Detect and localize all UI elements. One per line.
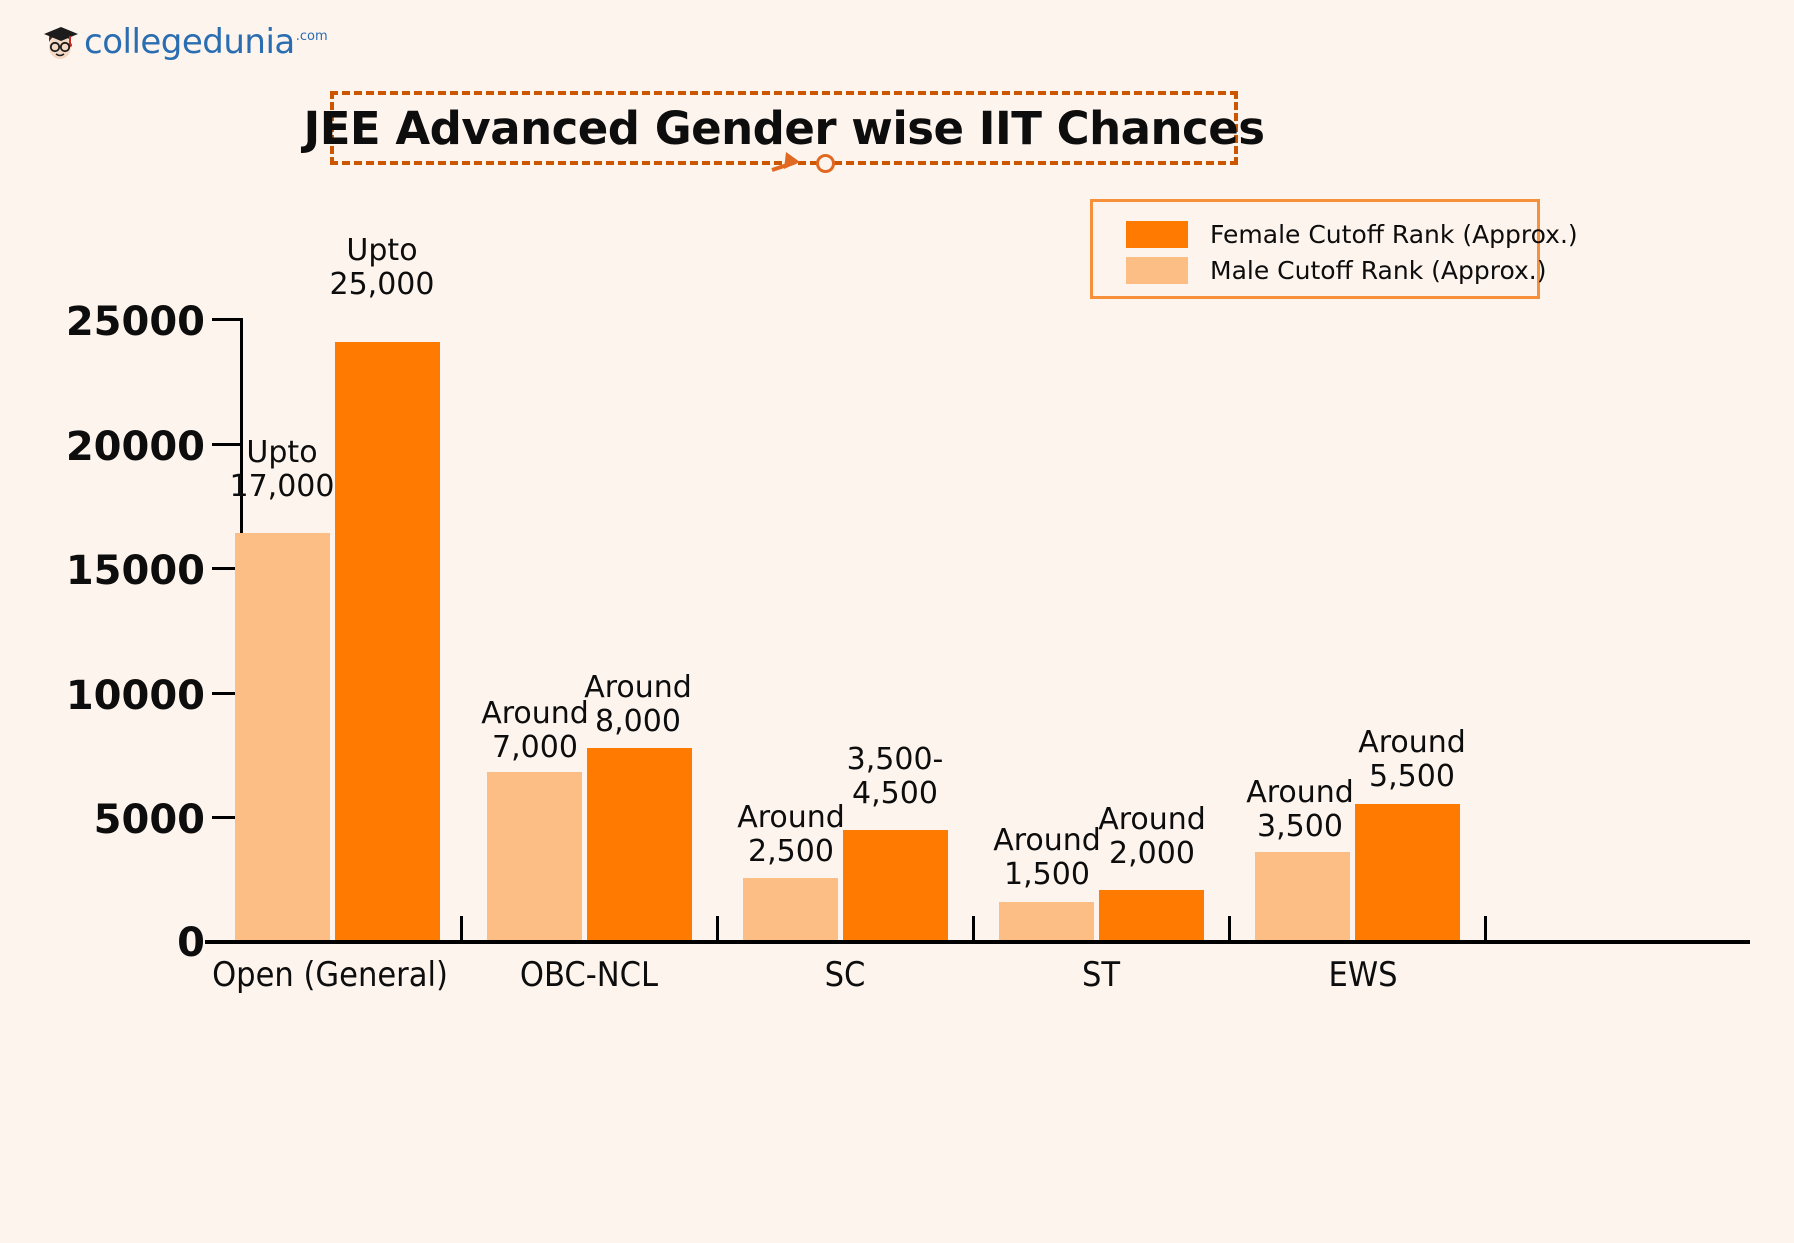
x-label-open-general: Open (General) <box>212 955 448 995</box>
value-label-female-obc-ncl: Around 8,000 <box>584 671 692 739</box>
value-label-male-obc-ncl: Around 7,000 <box>481 697 589 765</box>
y-tick-label-25000: 25000 <box>66 299 205 345</box>
bar-female-st[interactable] <box>1099 890 1204 940</box>
x-label-ews: EWS <box>1329 955 1398 995</box>
value-label-female-sc: 3,500- 4,500 <box>847 743 944 811</box>
bar-male-sc[interactable] <box>743 878 838 940</box>
bar-female-obc-ncl[interactable] <box>587 748 692 940</box>
y-tick-label-0: 0 <box>177 920 205 966</box>
value-label-male-open-general: Upto 17,000 <box>230 436 335 504</box>
bar-group-ews <box>1255 318 1480 940</box>
value-label-female-open-general: Upto 25,000 <box>330 234 435 302</box>
bar-group-open-general <box>235 318 460 940</box>
x-divider-3 <box>972 916 975 941</box>
value-label-female-ews: Around 5,500 <box>1358 726 1466 794</box>
bar-group-obc-ncl <box>487 318 712 940</box>
y-tick-label-5000: 5000 <box>94 797 205 843</box>
x-label-obc-ncl: OBC-NCL <box>520 955 658 995</box>
value-label-male-ews: Around 3,500 <box>1246 776 1354 844</box>
value-label-male-sc: Around 2,500 <box>737 801 845 869</box>
bar-female-sc[interactable] <box>843 830 948 940</box>
bar-female-open-general[interactable] <box>335 342 440 940</box>
x-divider-2 <box>716 916 719 941</box>
bar-male-obc-ncl[interactable] <box>487 772 582 940</box>
y-tick-label-10000: 10000 <box>66 673 205 719</box>
bar-male-st[interactable] <box>999 902 1094 940</box>
y-tick-label-15000: 15000 <box>66 548 205 594</box>
bar-female-ews[interactable] <box>1355 804 1460 940</box>
y-tick-label-20000: 20000 <box>66 424 205 470</box>
x-divider-1 <box>460 916 463 941</box>
value-label-female-st: Around 2,000 <box>1098 803 1206 871</box>
bar-male-open-general[interactable] <box>235 533 330 940</box>
x-label-sc: SC <box>825 955 866 995</box>
value-label-male-st: Around 1,500 <box>993 824 1101 892</box>
x-axis-line <box>205 940 1750 944</box>
x-label-st: ST <box>1082 955 1120 995</box>
bar-male-ews[interactable] <box>1255 852 1350 940</box>
x-divider-4 <box>1228 916 1231 941</box>
bar-chart-plot: 25000 20000 15000 10000 5000 0 Upto 17,0… <box>0 0 1794 1243</box>
x-divider-5 <box>1484 916 1487 941</box>
